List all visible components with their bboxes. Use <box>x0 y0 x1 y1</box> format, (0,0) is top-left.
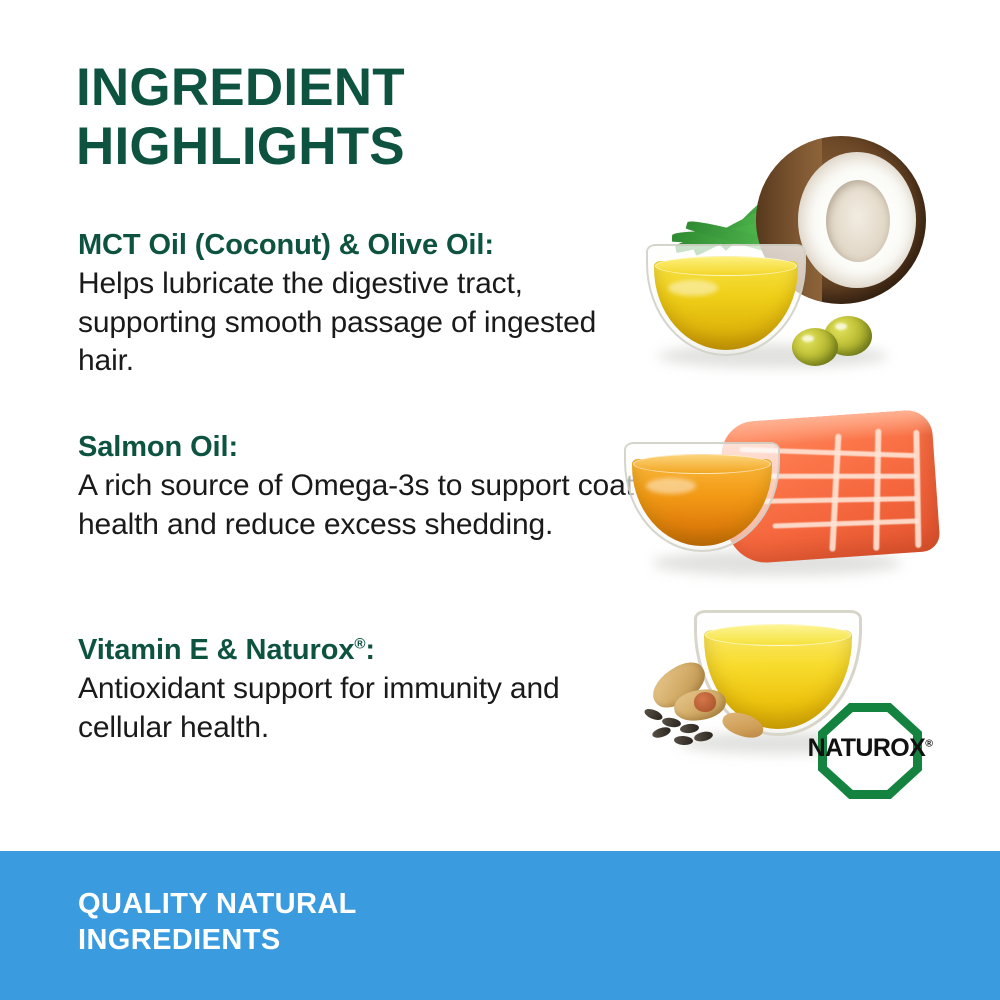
infographic-page: INGREDIENT HIGHLIGHTS MCT Oil (Coconut) … <box>0 0 1000 1000</box>
section-heading-vitamin-e-text: Vitamin E & Naturox <box>78 634 354 666</box>
coconut-half-image <box>756 136 926 304</box>
sunflower-seed <box>643 707 664 722</box>
ingredient-section-salmon-oil: Salmon Oil: A rich source of Omega-3s to… <box>78 430 638 544</box>
salmon-oil-photo <box>612 412 944 602</box>
section-heading-mct-olive-oil: MCT Oil (Coconut) & Olive Oil: <box>78 228 638 262</box>
banner-line-2: INGREDIENTS <box>78 922 357 958</box>
coconut-flesh <box>798 152 916 288</box>
bowl-oil-surface <box>705 624 851 646</box>
bowl-oil-liquid <box>632 459 772 546</box>
peanut-kernel <box>720 708 767 742</box>
coconut-cavity <box>826 180 890 262</box>
olive-fruit <box>824 316 872 356</box>
section-heading-vitamin-e-colon: : <box>365 634 375 666</box>
ingredient-section-vitamin-e: Vitamin E & Naturox®: Antioxidant suppor… <box>78 633 638 747</box>
section-heading-salmon-oil: Salmon Oil: <box>78 430 638 464</box>
section-body-vitamin-e: Antioxidant support for immunity and cel… <box>78 670 638 747</box>
palm-leaf-icon <box>717 160 816 251</box>
banner-line-1: QUALITY NATURAL <box>78 886 357 922</box>
bottom-banner: QUALITY NATURAL INGREDIENTS <box>0 851 1000 1000</box>
bowl-glass <box>624 442 780 552</box>
section-body-salmon-oil: A rich source of Omega-3s to support coa… <box>78 467 638 544</box>
sunflower-seed <box>693 730 713 743</box>
peanut-shell <box>672 687 728 724</box>
peanut-kernel <box>694 692 716 712</box>
bowl-oil-liquid <box>654 261 798 350</box>
bowl-glass <box>646 244 806 356</box>
palm-leaf-icon <box>672 229 820 247</box>
ingredient-section-mct-olive-oil: MCT Oil (Coconut) & Olive Oil: Helps lub… <box>78 228 638 380</box>
salmon-fat-edge <box>719 409 932 450</box>
palm-leaf-icon <box>691 185 819 256</box>
bowl-oil-surface <box>633 454 771 474</box>
page-title-line-2: HIGHLIGHTS <box>76 117 616 176</box>
palm-leaf-icon <box>686 216 822 267</box>
olive-oil-bowl <box>646 244 806 356</box>
registered-trademark-icon: ® <box>925 738 932 750</box>
registered-trademark-icon: ® <box>354 635 365 652</box>
section-body-mct-olive-oil: Helps lubricate the digestive tract, sup… <box>78 265 638 380</box>
sunflower-seed <box>651 725 672 739</box>
page-title-line-1: INGREDIENT <box>76 58 616 117</box>
olive-fruit <box>792 328 838 366</box>
sunflower-seed <box>680 723 700 734</box>
coconut-olive-oil-photo <box>628 132 958 384</box>
salmon-scene-shadow <box>652 550 902 576</box>
peanut-shell <box>645 655 712 716</box>
naturox-wordmark-text: NATUROX <box>808 734 926 762</box>
banner-heading: QUALITY NATURAL INGREDIENTS <box>78 886 357 959</box>
bowl-highlight <box>668 280 718 296</box>
bowl-oil-surface <box>655 256 797 276</box>
sunflower-seed <box>661 716 681 728</box>
bowl-highlight <box>646 478 696 494</box>
page-title: INGREDIENT HIGHLIGHTS <box>76 58 616 177</box>
coconut-husk <box>756 136 822 304</box>
naturox-wordmark: NATUROX® <box>804 734 936 763</box>
section-heading-vitamin-e: Vitamin E & Naturox®: <box>78 633 638 667</box>
salmon-fillet-image <box>719 409 940 565</box>
coconut-scene-shadow <box>658 344 888 368</box>
palm-leaf-icon <box>674 210 820 253</box>
salmon-oil-bowl <box>624 442 780 552</box>
sunflower-seed <box>674 735 694 745</box>
naturox-logo: NATUROX® <box>804 703 936 799</box>
